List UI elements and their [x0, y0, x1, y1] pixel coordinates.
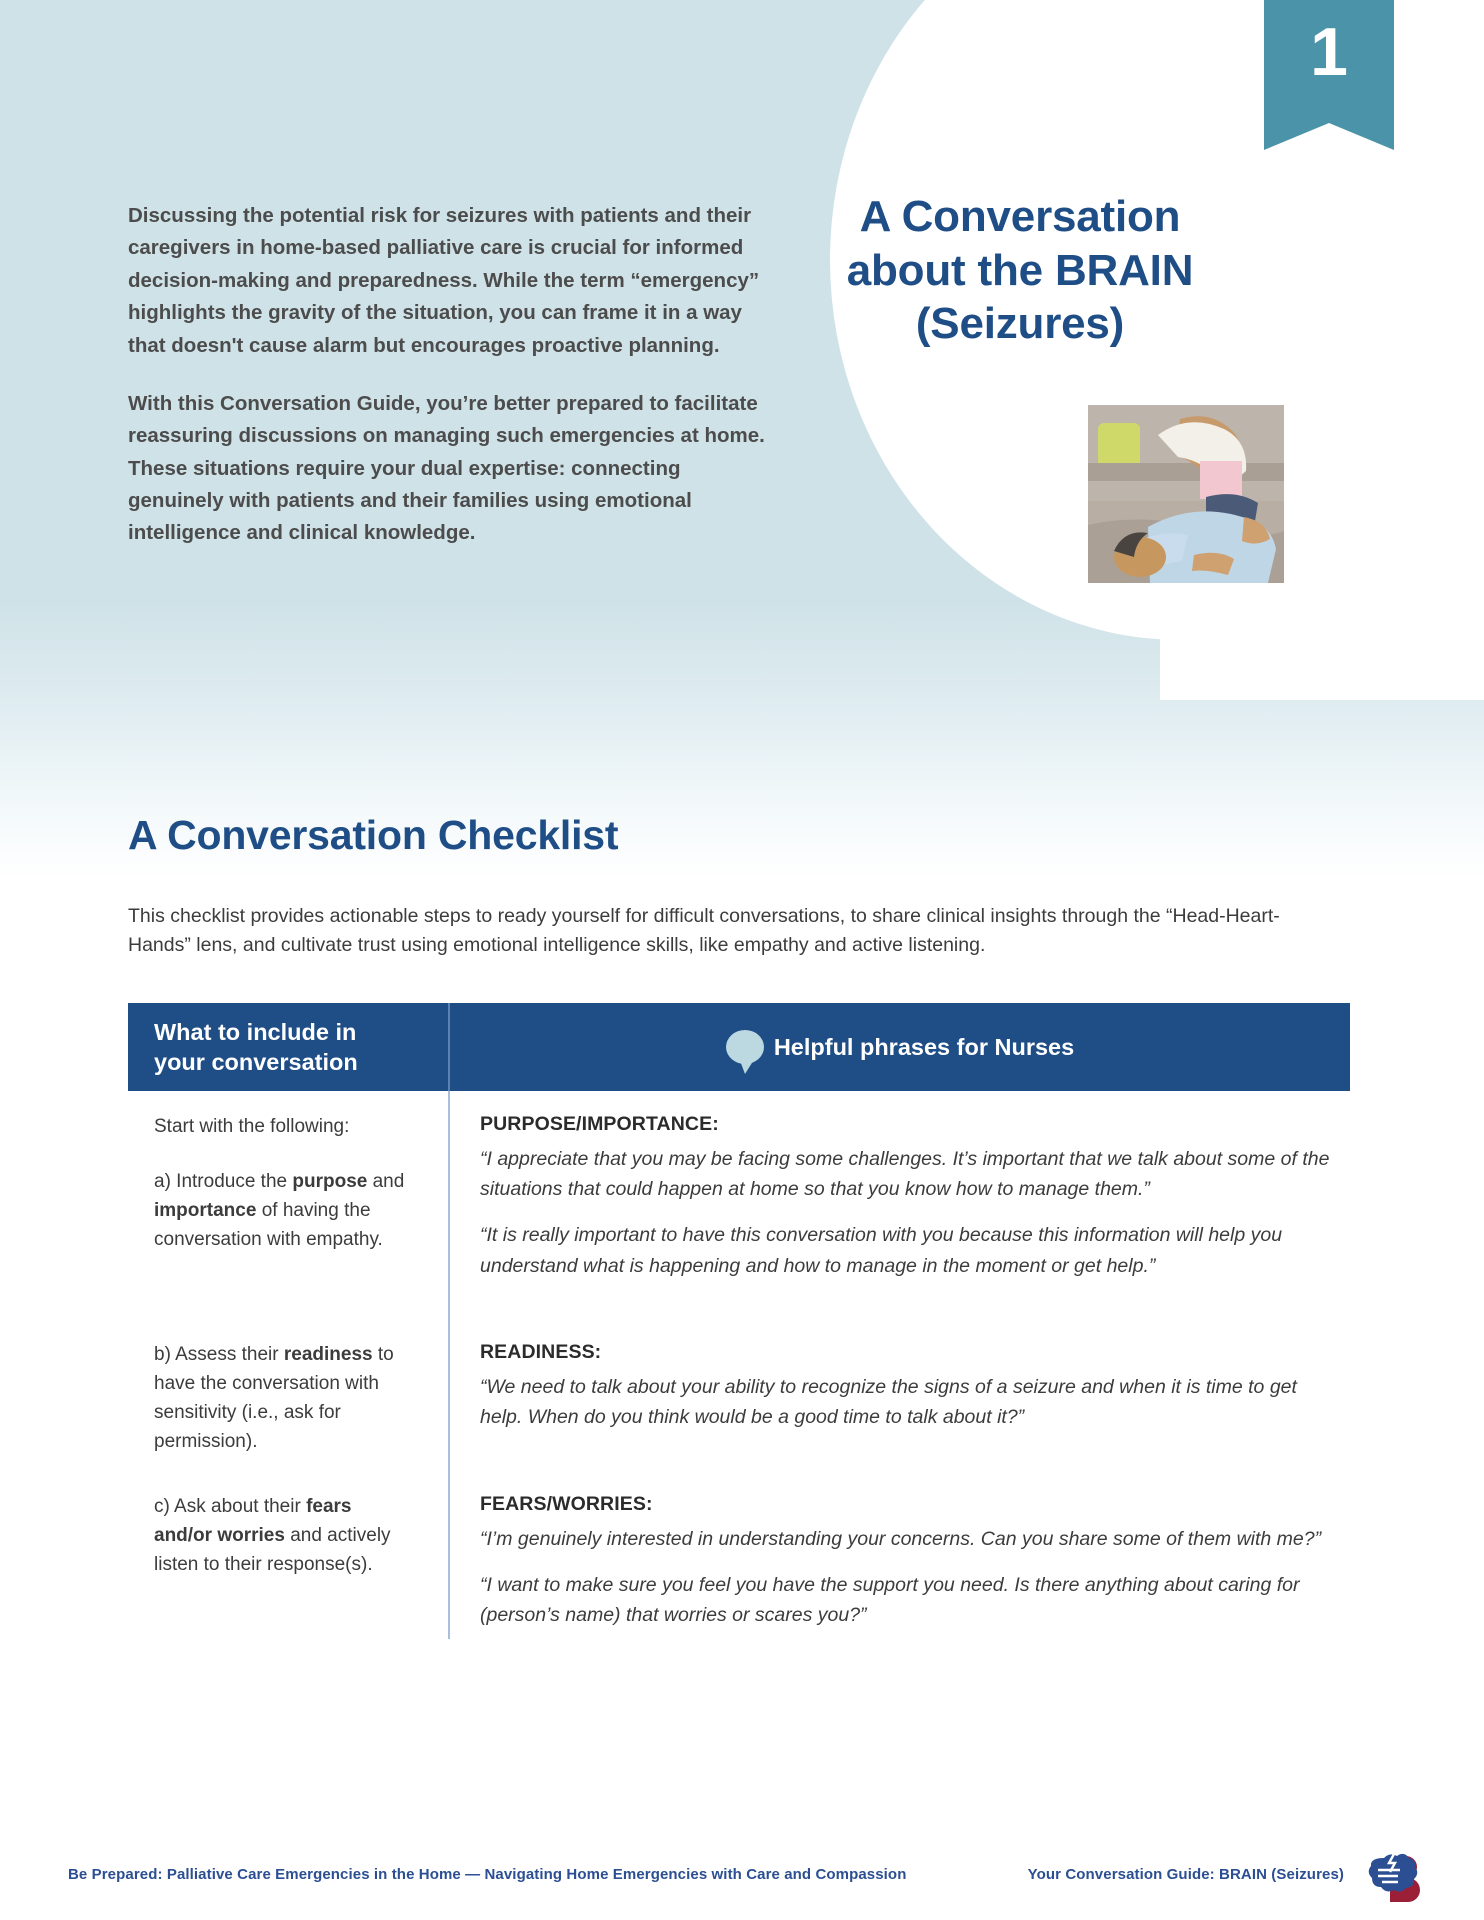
table-header-left: What to include in your conversation — [128, 1003, 450, 1091]
phrase-category-label: READINESS: — [480, 1341, 1330, 1364]
checklist-heading: A Conversation Checklist — [128, 812, 618, 859]
row-item-text: a) Introduce the purpose and importance … — [154, 1168, 408, 1255]
intro-paragraph-1: Discussing the potential risk for seizur… — [128, 200, 768, 362]
row-item-text: c) Ask about their fears and/or worries … — [154, 1493, 408, 1580]
row-item-bold-1: purpose — [292, 1171, 367, 1192]
table-cell-phrases: FEARS/WORRIES: “I’m genuinely interested… — [450, 1471, 1350, 1645]
row-item-text: b) Assess their readiness to have the co… — [154, 1341, 408, 1457]
page-title-line-1: A Conversation — [760, 190, 1280, 244]
page-footer: Be Prepared: Palliative Care Emergencies… — [0, 1856, 1484, 1920]
table-header-left-line-1: What to include in — [154, 1017, 448, 1047]
table-cell-include: Start with the following: a) Introduce t… — [128, 1091, 450, 1319]
phrase-text: “I want to make sure you feel you have t… — [480, 1570, 1330, 1630]
page-title-line-2: about the BRAIN — [760, 244, 1280, 298]
phrase-text: “We need to talk about your ability to r… — [480, 1372, 1330, 1432]
table-header-right-label: Helpful phrases for Nurses — [774, 1034, 1074, 1061]
hero-photo — [1088, 405, 1284, 583]
footer-left-text: Be Prepared: Palliative Care Emergencies… — [68, 1866, 906, 1883]
table-row: b) Assess their readiness to have the co… — [128, 1319, 1350, 1471]
phrase-text: “I’m genuinely interested in understandi… — [480, 1524, 1330, 1554]
section-number: 1 — [1310, 18, 1348, 86]
intro-text: Discussing the potential risk for seizur… — [128, 200, 768, 550]
table-cell-include: c) Ask about their fears and/or worries … — [128, 1471, 450, 1639]
page-title-line-3: (Seizures) — [760, 297, 1280, 351]
phrase-category-label: PURPOSE/IMPORTANCE: — [480, 1113, 1330, 1136]
row-item-prefix: c) Ask about their — [154, 1496, 306, 1517]
table-header-row: What to include in your conversation Hel… — [128, 1003, 1350, 1091]
row-item-prefix: b) Assess their — [154, 1344, 284, 1365]
row-item-bold-2: importance — [154, 1200, 256, 1221]
phrase-text: “I appreciate that you may be facing som… — [480, 1144, 1330, 1204]
table-body: Start with the following: a) Introduce t… — [128, 1091, 1350, 1645]
page-title: A Conversation about the BRAIN (Seizures… — [760, 190, 1280, 351]
table-row: c) Ask about their fears and/or worries … — [128, 1471, 1350, 1645]
row-item-mid: and — [367, 1171, 404, 1192]
brain-b-logo-icon — [1354, 1852, 1424, 1904]
table-header-right: Helpful phrases for Nurses — [450, 1003, 1350, 1091]
conversation-checklist-table: What to include in your conversation Hel… — [128, 1003, 1350, 1645]
intro-paragraph-2: With this Conversation Guide, you’re bet… — [128, 388, 768, 550]
checklist-intro: This checklist provides actionable steps… — [128, 902, 1313, 961]
phrase-text: “It is really important to have this con… — [480, 1220, 1330, 1280]
table-row: Start with the following: a) Introduce t… — [128, 1091, 1350, 1319]
row-item-bold-1: readiness — [284, 1344, 373, 1365]
row-item-prefix: a) Introduce the — [154, 1171, 292, 1192]
table-cell-phrases: READINESS: “We need to talk about your a… — [450, 1319, 1350, 1471]
table-cell-include: b) Assess their readiness to have the co… — [128, 1319, 450, 1471]
table-cell-phrases: PURPOSE/IMPORTANCE: “I appreciate that y… — [450, 1091, 1350, 1319]
row-lead-text: Start with the following: — [154, 1113, 408, 1142]
phrase-category-label: FEARS/WORRIES: — [480, 1493, 1330, 1516]
footer-right-text: Your Conversation Guide: BRAIN (Seizures… — [1028, 1866, 1344, 1883]
speech-bubble-icon — [726, 1030, 764, 1064]
document-page: 1 A Conversation about the BRAIN (Seizur… — [0, 0, 1484, 1920]
table-header-left-line-2: your conversation — [154, 1047, 448, 1077]
